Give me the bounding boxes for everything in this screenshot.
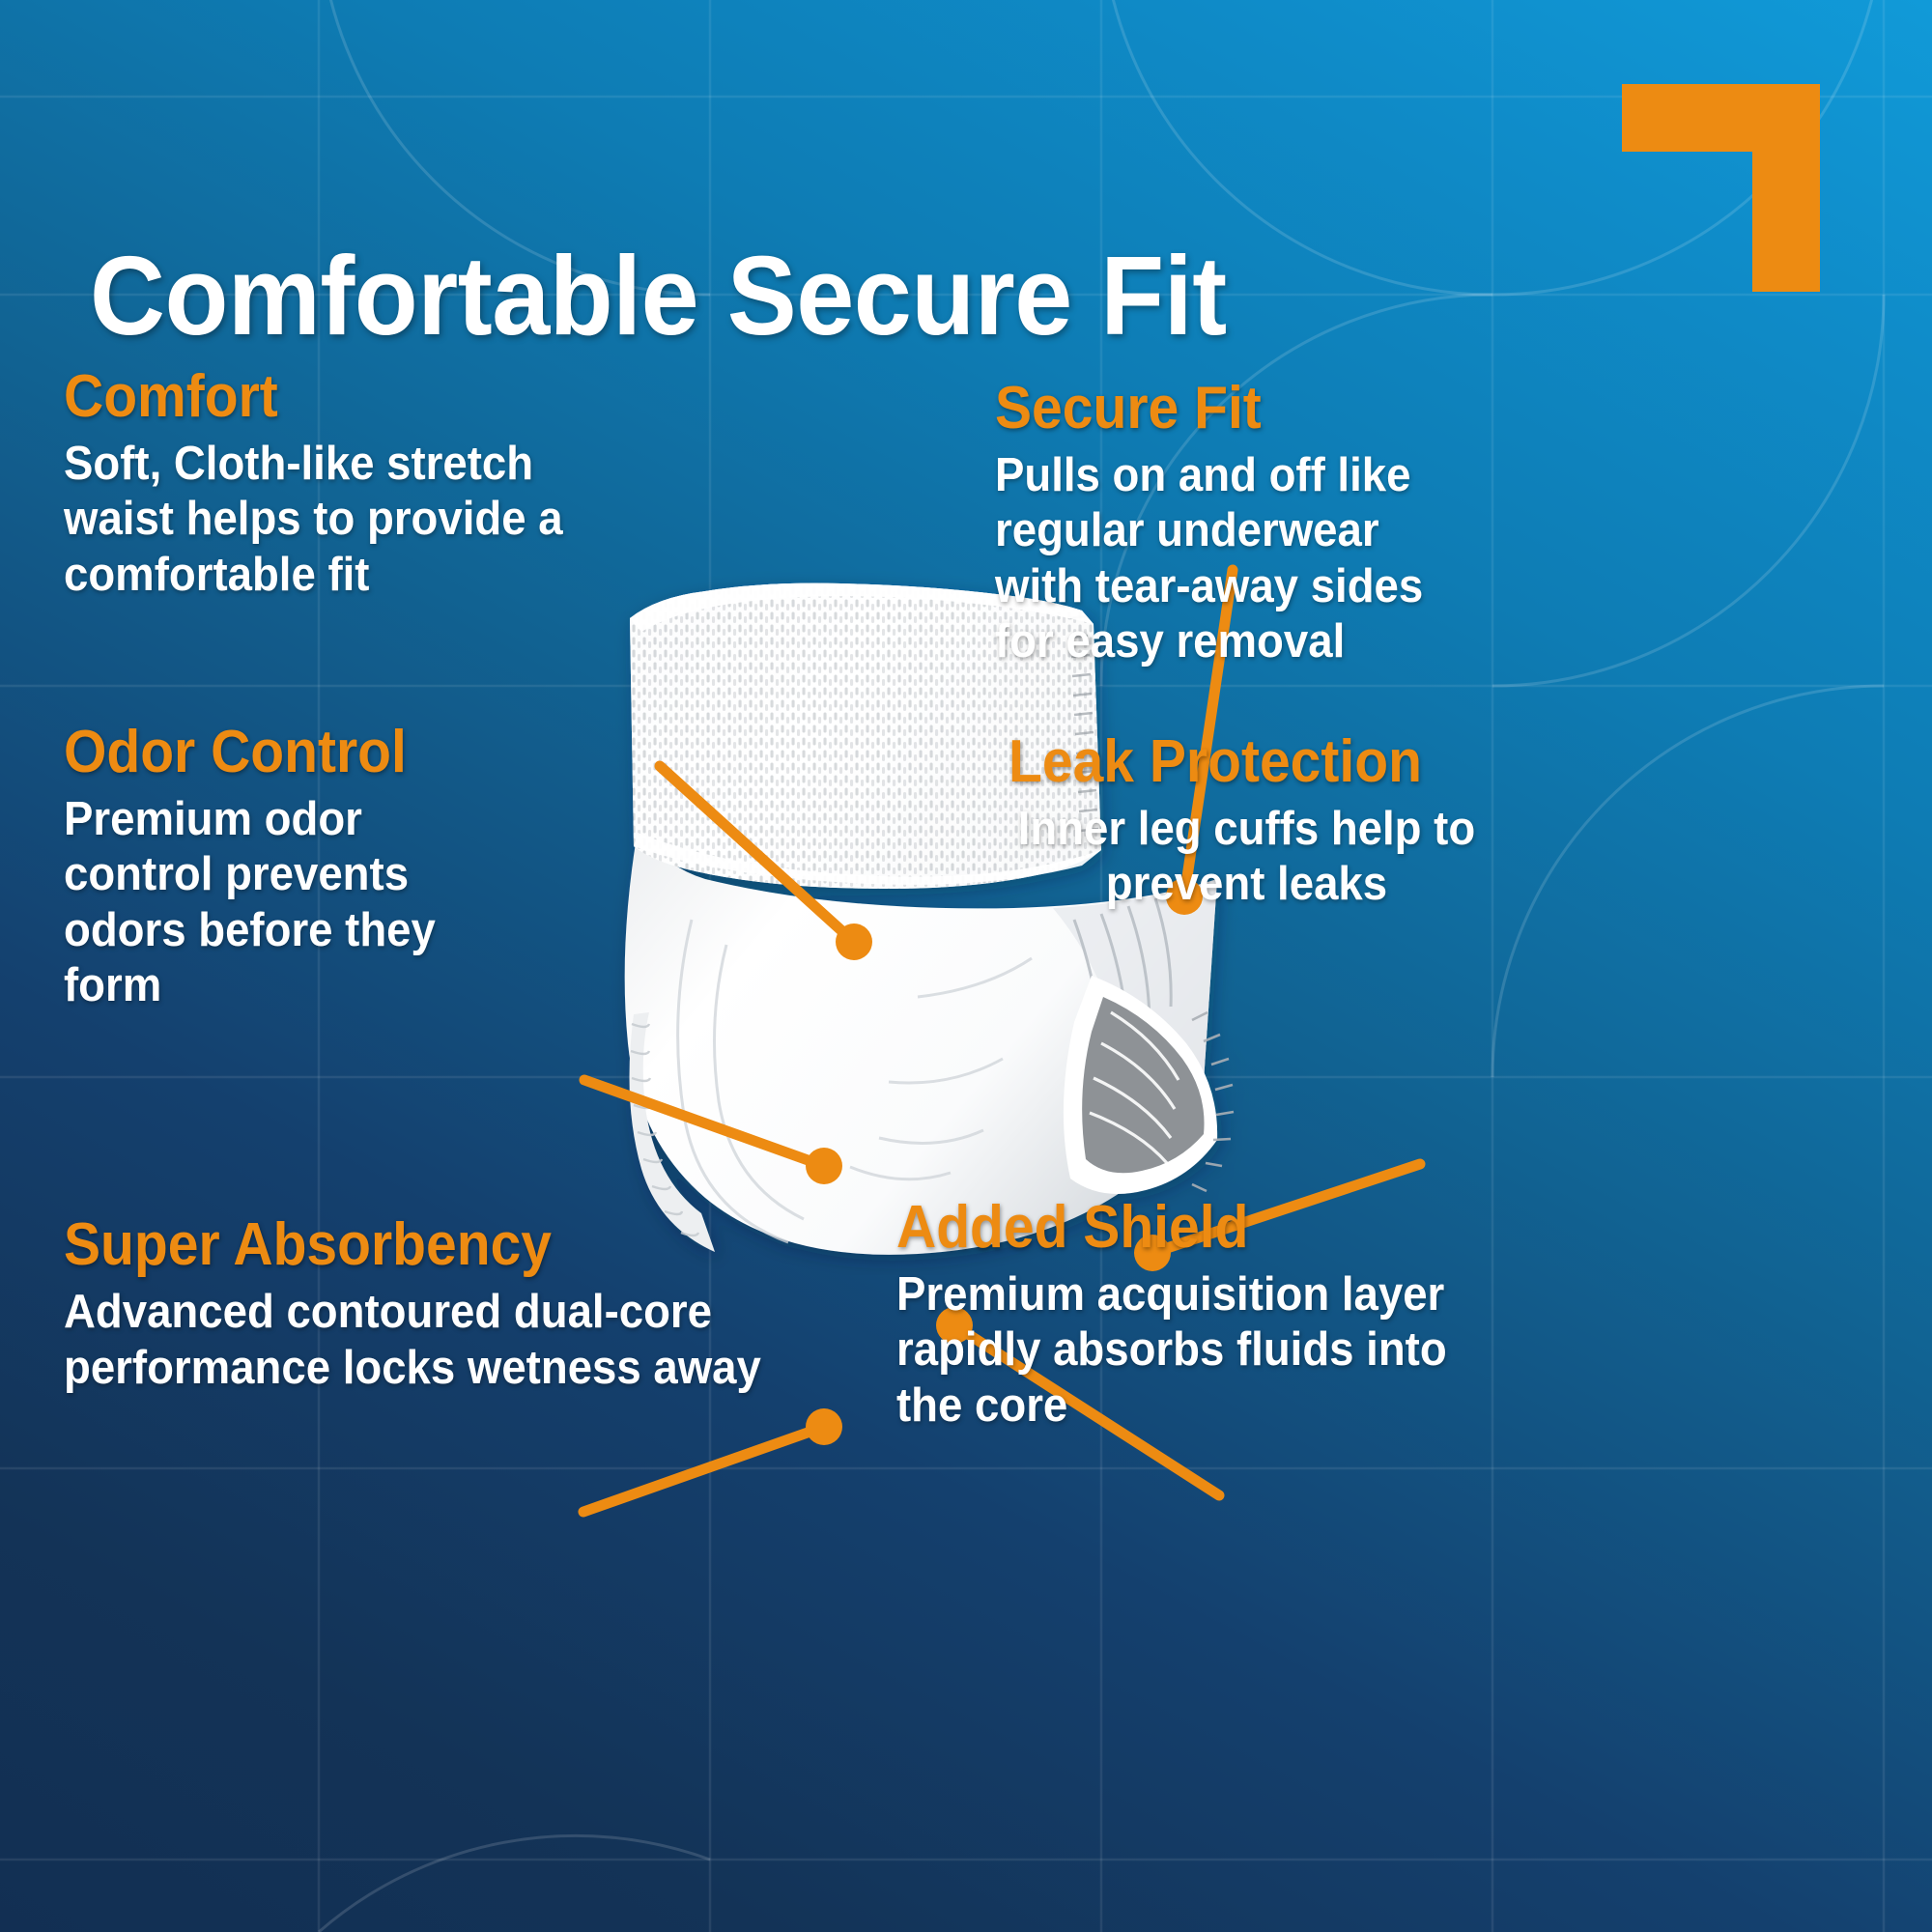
- callout-heading-leak-protection: Leak Protection: [1009, 732, 1480, 792]
- leader-line-odor-control: [584, 1080, 824, 1166]
- leader-dot-odor-control: [806, 1148, 842, 1184]
- callout-secure-fit: Secure Fit Pulls on and off like regular…: [995, 379, 1497, 669]
- leader-dot-comfort: [836, 923, 872, 960]
- page-title: Comfortable Secure Fit: [90, 240, 1227, 352]
- callout-heading-comfort: Comfort: [64, 367, 614, 427]
- callout-body-odor-control: Premium odor control prevents odors befo…: [64, 792, 486, 1013]
- infographic-canvas: Comfortable Secure Fit Comfort Soft, Clo…: [0, 0, 1932, 1932]
- callout-body-leak-protection: Inner leg cuffs help to prevent leaks: [1009, 802, 1485, 913]
- callout-heading-secure-fit: Secure Fit: [995, 379, 1457, 439]
- leader-line-comfort: [660, 766, 854, 942]
- callout-body-secure-fit: Pulls on and off like regular underwear …: [995, 448, 1463, 669]
- callout-body-added-shield: Premium acquisition layer rapidly absorb…: [896, 1267, 1454, 1434]
- callout-comfort: Comfort Soft, Cloth-like stretch waist h…: [64, 367, 663, 603]
- leader-dot-super-absorbency: [806, 1408, 842, 1445]
- callout-heading-added-shield: Added Shield: [896, 1198, 1447, 1258]
- callout-leak-protection: Leak Protection Inner leg cuffs help to …: [1009, 732, 1520, 913]
- callout-body-super-absorbency: Advanced contoured dual-core performance…: [64, 1285, 810, 1397]
- callout-body-comfort: Soft, Cloth-like stretch waist helps to …: [64, 437, 621, 603]
- callout-super-absorbency: Super Absorbency Advanced contoured dual…: [64, 1215, 866, 1397]
- leader-line-super-absorbency: [583, 1427, 824, 1512]
- corner-bracket-mark: [1622, 84, 1820, 292]
- callout-heading-super-absorbency: Super Absorbency: [64, 1215, 802, 1275]
- callout-added-shield: Added Shield Premium acquisition layer r…: [896, 1198, 1495, 1434]
- callout-odor-control: Odor Control Premium odor control preven…: [64, 723, 518, 1013]
- callout-heading-odor-control: Odor Control: [64, 723, 481, 782]
